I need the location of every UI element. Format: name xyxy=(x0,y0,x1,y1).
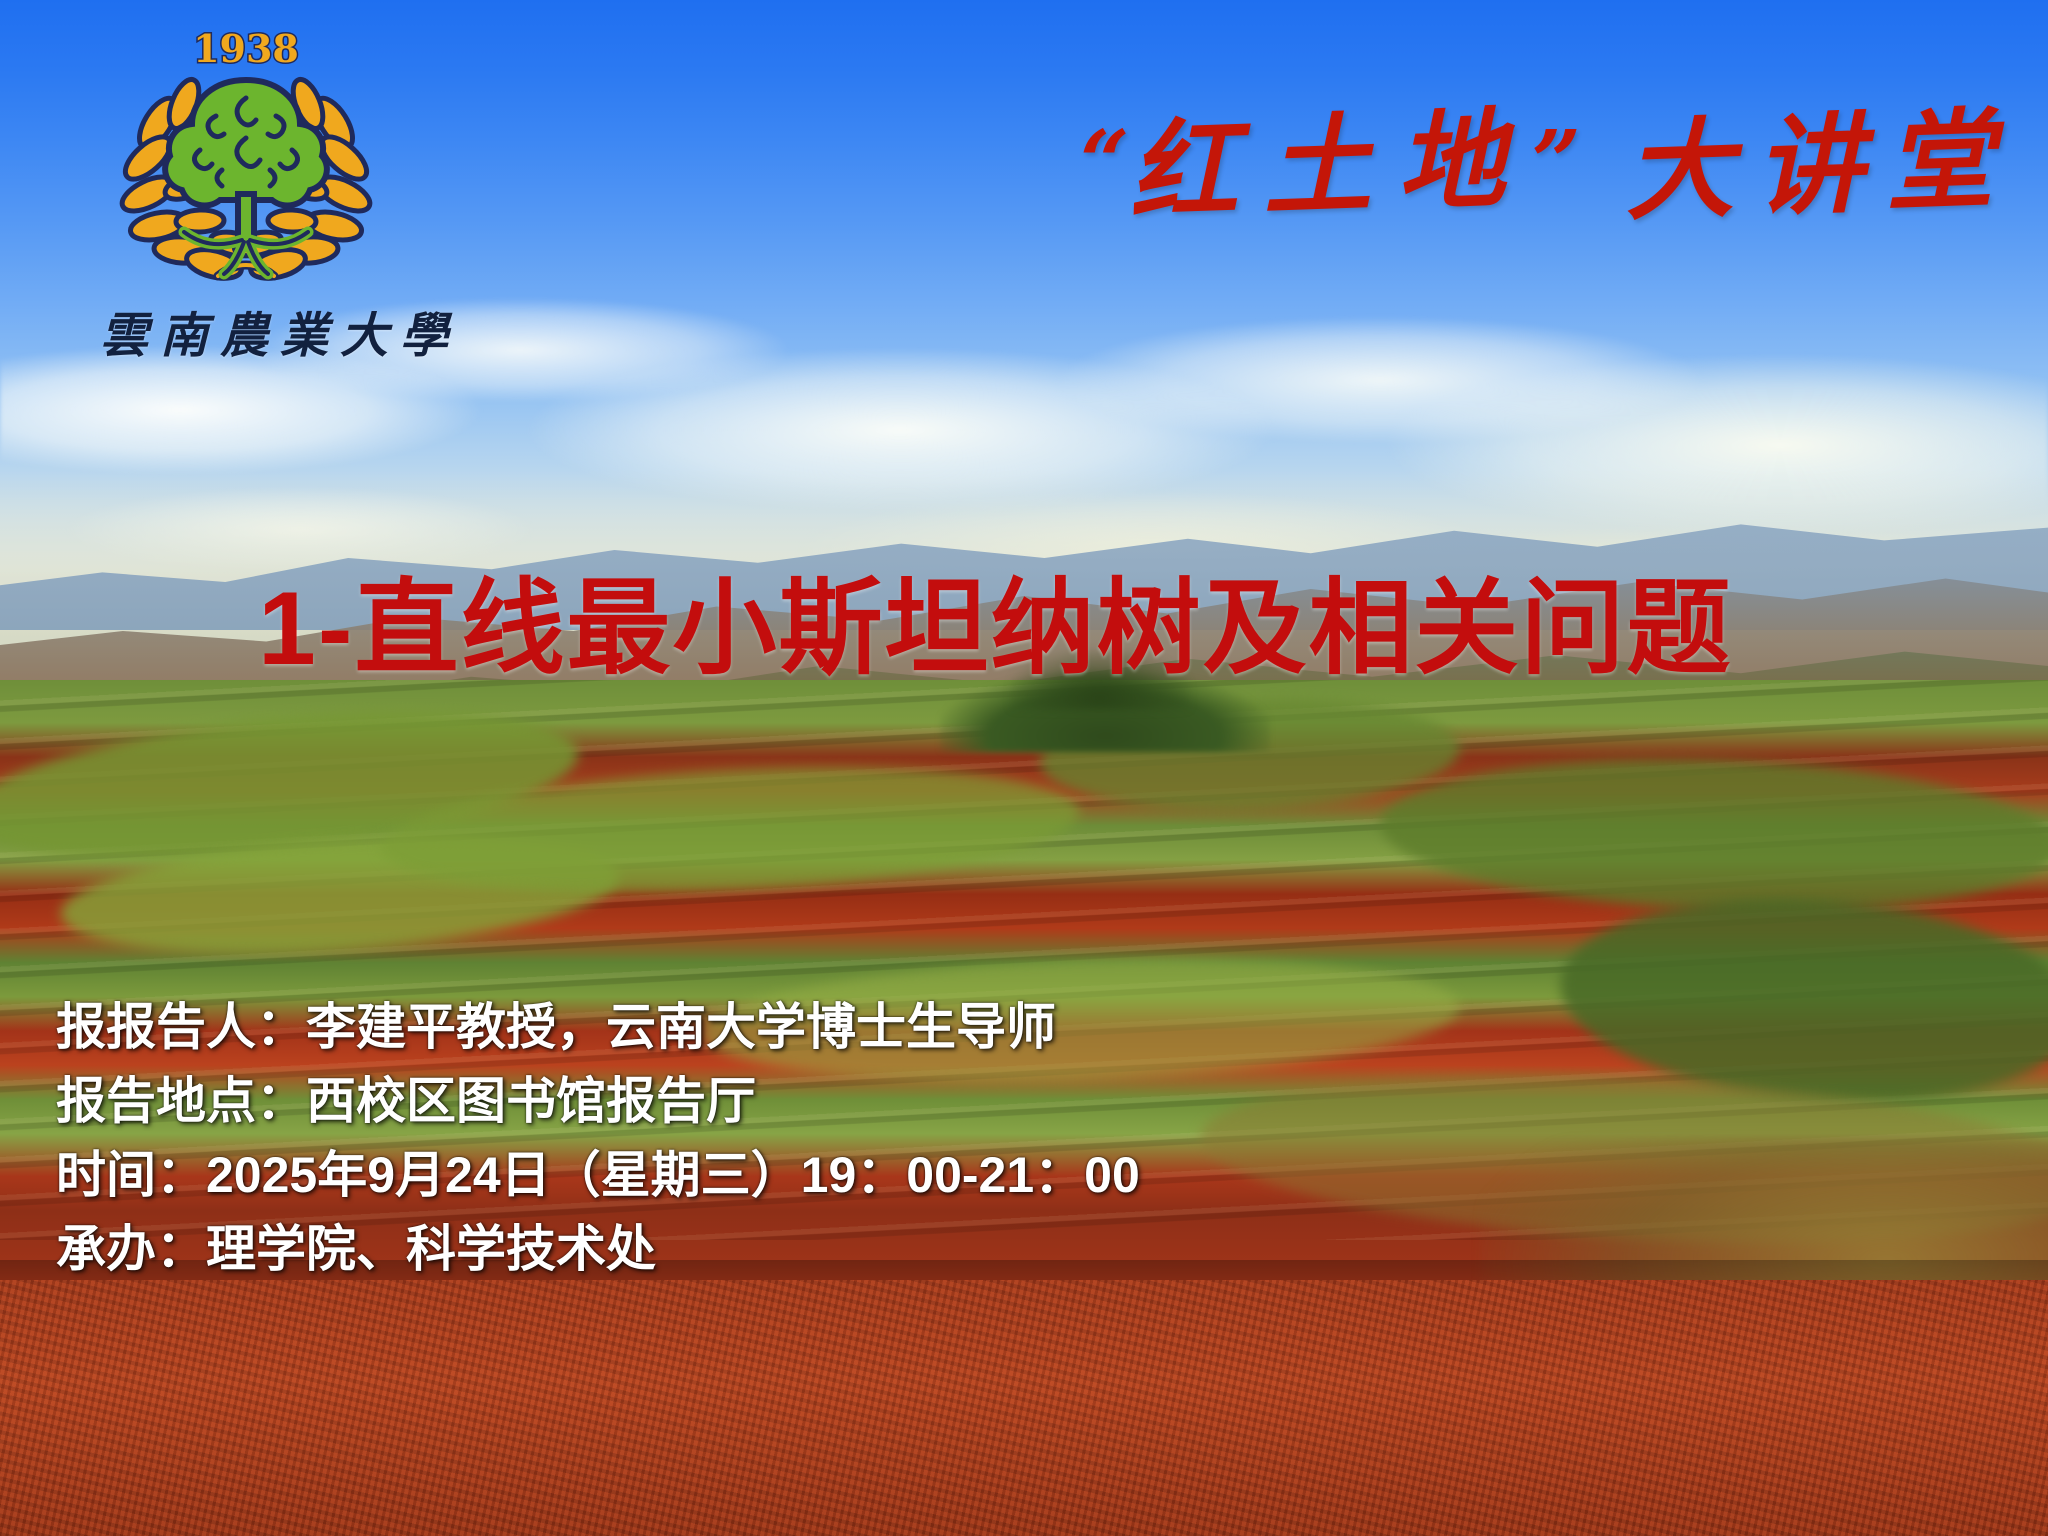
emblem-year: 1938 xyxy=(193,26,299,71)
university-logo: 1938 xyxy=(96,18,396,288)
info-line-location: 报告地点：西校区图书馆报告厅 xyxy=(56,1064,1556,1138)
university-emblem-svg: 1938 xyxy=(96,18,396,288)
lecture-series-brand: “ 红土地 ” 大讲堂 xyxy=(1080,112,2015,220)
info-line-speaker: 报报告人：李建平教授，云南大学博士生导师 xyxy=(56,990,1556,1064)
lecture-title: 1-直线最小斯坦纳树及相关问题 xyxy=(258,543,1732,694)
quote-close-mark: ” xyxy=(1531,120,1580,206)
info-line-time: 时间：2025年9月24日（星期三）19：00-21：00 xyxy=(56,1138,1556,1212)
red-soil-foreground xyxy=(0,1280,2048,1536)
quote-open-mark: “ xyxy=(1080,120,1129,206)
info-line-organizer: 承办：理学院、科学技术处 xyxy=(56,1212,1556,1286)
lecture-series-name: 红土地 xyxy=(1128,105,1534,227)
lecture-info-block: 报报告人：李建平教授，云南大学博士生导师 报告地点：西校区图书馆报告厅 时间：2… xyxy=(56,990,1556,1286)
lecture-poster-slide: 1938 雲南農業大學 “ 红土地 ” 大讲堂 1-直线最小斯坦纳树及相关问题 … xyxy=(0,0,2048,1536)
lecture-series-suffix: 大讲堂 xyxy=(1623,105,2017,227)
university-name-calligraphy: 雲南農業大學 xyxy=(100,296,420,366)
